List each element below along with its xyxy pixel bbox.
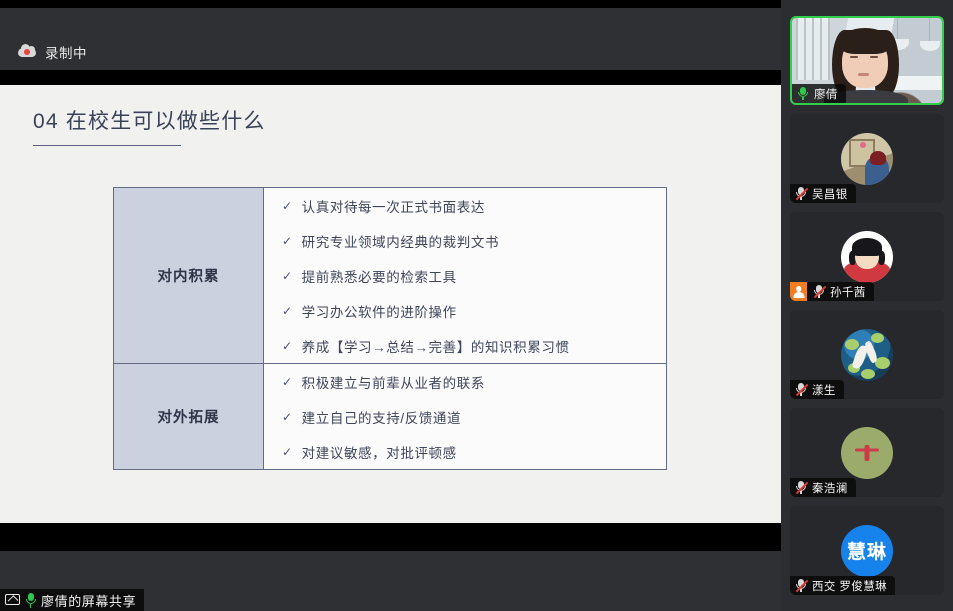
avatar bbox=[841, 133, 893, 185]
avatar bbox=[841, 329, 893, 381]
avatar bbox=[841, 231, 893, 283]
cloud-recording-icon bbox=[18, 45, 36, 59]
table-row: 对内积累 ✓ 认真对待每一次正式书面表达 ✓ 研究专业领域内经典的裁判文书 bbox=[114, 188, 667, 364]
list-item: ✓ 养成【学习→总结→完善】的知识积累习惯 bbox=[264, 328, 666, 363]
participant-nameplate: 孙千茜 bbox=[790, 282, 874, 301]
participant-name: 廖倩 bbox=[814, 86, 838, 102]
list-item-label: 学习办公软件的进阶操作 bbox=[302, 301, 457, 321]
shared-screen-topbar: 录制中 bbox=[0, 8, 781, 70]
participant-nameplate: 吴昌银 bbox=[790, 184, 856, 203]
meeting-window: 录制中 04 在校生可以做些什么 对内积累 ✓ 认真对待每一次正式书面表达 bbox=[0, 0, 953, 611]
check-icon: ✓ bbox=[282, 376, 293, 388]
list-item: ✓ 对建议敏感，对批评顿感 bbox=[264, 434, 666, 469]
participant-name: 孙千茜 bbox=[830, 284, 866, 300]
participant-tile-sunqianqian[interactable]: 孙千茜 bbox=[790, 212, 944, 301]
participant-tile-xijiao-luojunhuilin[interactable]: 慧琳 西交 罗俊慧琳 bbox=[790, 506, 944, 595]
list-item: ✓ 学习办公软件的进阶操作 bbox=[264, 293, 666, 328]
avatar bbox=[841, 427, 893, 479]
participant-tile-liaoqian[interactable]: 廖倩 bbox=[790, 16, 944, 105]
microphone-muted-icon bbox=[795, 383, 807, 397]
letterbox-bottom bbox=[0, 523, 781, 551]
list-item-label: 积极建立与前辈从业者的联系 bbox=[302, 372, 485, 392]
recording-indicator: 录制中 bbox=[18, 42, 87, 62]
participant-nameplate: 西交 罗俊慧琳 bbox=[790, 576, 895, 595]
list-item: ✓ 提前熟悉必要的检索工具 bbox=[264, 258, 666, 293]
table-items-cell: ✓ 积极建立与前辈从业者的联系 ✓ 建立自己的支持/反馈通道 ✓ 对建议敏感，对… bbox=[264, 364, 667, 470]
microphone-on-icon bbox=[797, 87, 809, 101]
check-icon: ✓ bbox=[282, 411, 293, 423]
list-item: ✓ 认真对待每一次正式书面表达 bbox=[264, 188, 666, 223]
check-icon: ✓ bbox=[282, 270, 293, 282]
participant-name: 吴昌银 bbox=[812, 186, 848, 202]
list-item: ✓ 研究专业领域内经典的裁判文书 bbox=[264, 223, 666, 258]
participant-nameplate: 廖倩 bbox=[792, 84, 846, 103]
participant-nameplate: 漾生 bbox=[790, 380, 844, 399]
check-icon: ✓ bbox=[282, 305, 293, 317]
microphone-muted-icon bbox=[813, 285, 825, 299]
microphone-muted-icon bbox=[795, 481, 807, 495]
microphone-muted-icon bbox=[795, 187, 807, 201]
participant-tile-wuchangyin[interactable]: 吴昌银 bbox=[790, 114, 944, 203]
list-item: ✓ 积极建立与前辈从业者的联系 bbox=[264, 364, 666, 399]
list-item-label: 对建议敏感，对批评顿感 bbox=[302, 442, 457, 462]
screen-share-owner-label: 廖倩的屏幕共享 bbox=[41, 591, 136, 610]
list-item-label: 提前熟悉必要的检索工具 bbox=[302, 266, 457, 286]
table-category-cell: 对内积累 bbox=[114, 188, 264, 364]
check-icon: ✓ bbox=[282, 200, 293, 212]
avatar-initials: 慧琳 bbox=[841, 525, 893, 577]
microphone-on-icon bbox=[25, 593, 36, 608]
screen-share-status-tag: 廖倩的屏幕共享 bbox=[0, 589, 144, 611]
check-icon: ✓ bbox=[282, 446, 293, 458]
list-item-label: 养成【学习→总结→完善】的知识积累习惯 bbox=[302, 336, 570, 356]
list-item-label: 建立自己的支持/反馈通道 bbox=[302, 407, 461, 427]
letterbox-top bbox=[0, 70, 781, 85]
recording-label: 录制中 bbox=[45, 42, 87, 62]
participant-name: 西交 罗俊慧琳 bbox=[812, 578, 887, 594]
list-item-label: 认真对待每一次正式书面表达 bbox=[302, 196, 485, 216]
table-row: 对外拓展 ✓ 积极建立与前辈从业者的联系 ✓ 建立自己的支持/反馈通道 bbox=[114, 364, 667, 470]
participant-nameplate: 秦浩澜 bbox=[790, 478, 856, 497]
slide-title-underline bbox=[33, 145, 181, 146]
participant-tile-yangsheng[interactable]: 漾生 bbox=[790, 310, 944, 399]
screen-share-icon bbox=[5, 594, 20, 606]
microphone-muted-icon bbox=[795, 579, 807, 593]
shared-screen-region: 录制中 04 在校生可以做些什么 对内积累 ✓ 认真对待每一次正式书面表达 bbox=[0, 0, 781, 611]
check-icon: ✓ bbox=[282, 340, 293, 352]
table-category-cell: 对外拓展 bbox=[114, 364, 264, 470]
shared-screen-footer: 廖倩的屏幕共享 bbox=[0, 551, 781, 611]
participant-tile-qinhaolan[interactable]: 秦浩澜 bbox=[790, 408, 944, 497]
check-icon: ✓ bbox=[282, 235, 293, 247]
slide-content-table: 对内积累 ✓ 认真对待每一次正式书面表达 ✓ 研究专业领域内经典的裁判文书 bbox=[113, 187, 667, 470]
list-item: ✓ 建立自己的支持/反馈通道 bbox=[264, 399, 666, 434]
table-items-cell: ✓ 认真对待每一次正式书面表达 ✓ 研究专业领域内经典的裁判文书 ✓ 提前熟悉必… bbox=[264, 188, 667, 364]
slide-title: 04 在校生可以做些什么 bbox=[33, 105, 266, 135]
slide-title-block: 04 在校生可以做些什么 bbox=[33, 105, 266, 146]
host-badge-icon bbox=[790, 282, 807, 301]
participant-name: 秦浩澜 bbox=[812, 480, 848, 496]
list-item-label: 研究专业领域内经典的裁判文书 bbox=[302, 231, 499, 251]
participant-strip[interactable]: 廖倩 吴昌银 bbox=[781, 0, 953, 611]
presentation-slide: 04 在校生可以做些什么 对内积累 ✓ 认真对待每一次正式书面表达 ✓ bbox=[0, 85, 781, 523]
participant-name: 漾生 bbox=[812, 382, 836, 398]
